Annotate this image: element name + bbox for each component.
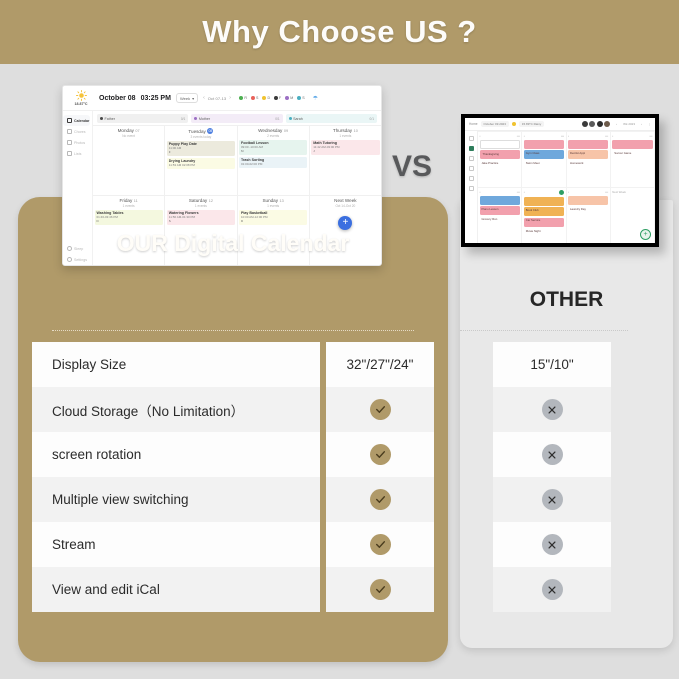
check-icon bbox=[370, 399, 391, 420]
sidebar-item-label: Lists bbox=[74, 152, 81, 156]
cross-icon bbox=[542, 534, 563, 555]
feature-value-other bbox=[493, 522, 611, 567]
day-name: Saturday 12 bbox=[189, 198, 213, 203]
day-name: Tuesday 08 bbox=[188, 128, 213, 134]
calendar-time: 03:25 PM bbox=[141, 95, 171, 102]
event-assignee: S bbox=[169, 219, 233, 223]
other-sidebar bbox=[465, 131, 478, 243]
event-assignee: J bbox=[313, 149, 377, 153]
feature-value-ours: 32"/27"/24" bbox=[326, 342, 434, 387]
member-chip[interactable]: Sarah 0/1 bbox=[286, 114, 377, 123]
sidebar-item-label: Chores bbox=[74, 130, 86, 134]
chevron-right-icon[interactable]: › bbox=[641, 122, 642, 126]
other-event-card[interactable]: Jake Practice bbox=[480, 150, 520, 159]
chores-icon bbox=[67, 129, 72, 134]
sidebar-item-photos[interactable]: Photos bbox=[63, 137, 92, 148]
vs-label: VS bbox=[392, 150, 432, 184]
table-row: View and edit iCal bbox=[32, 567, 434, 612]
chevron-left-icon[interactable]: ‹ bbox=[616, 122, 617, 126]
member-chip-count: 0/1 bbox=[370, 117, 374, 121]
other-day-column[interactable]: •••• Dentist Appt Homework bbox=[567, 132, 611, 187]
next-week-range: Oct 14-Oct 20 bbox=[335, 204, 355, 208]
day-column-thursday[interactable]: Thursday 10 1 events Math Tutoring 11:42… bbox=[310, 125, 381, 195]
page-title: Why Choose US ? bbox=[202, 14, 476, 50]
day-column-wednesday[interactable]: Wednesday 09 2 events Football Lesson 09… bbox=[238, 125, 310, 195]
today-badge bbox=[559, 190, 564, 195]
day-column-monday[interactable]: Monday 07 No event bbox=[93, 125, 165, 195]
lists-icon bbox=[67, 151, 72, 156]
sidebar-item-lists[interactable]: Lists bbox=[63, 148, 92, 159]
other-calendar-grid: •••• Thanksgiving Jake Practice •••• Gym… bbox=[478, 131, 655, 243]
other-column-divider bbox=[460, 330, 628, 331]
calendar-icon[interactable] bbox=[469, 146, 474, 151]
other-event-card[interactable]: Thanksgiving bbox=[480, 140, 520, 149]
other-event-card[interactable]: Swim Meet bbox=[524, 150, 564, 159]
event-card[interactable]: Play Basketball 10:00 AM-12:00 PM D bbox=[239, 210, 307, 225]
day-event-count: No event bbox=[122, 134, 135, 138]
feature-label: Cloud Storage（No Limitation） bbox=[32, 387, 320, 432]
member-avatar[interactable]: F bbox=[274, 96, 282, 101]
check-icon bbox=[370, 489, 391, 510]
feature-value-ours bbox=[326, 477, 434, 522]
day-name: Wednesday 09 bbox=[258, 128, 288, 133]
table-row: Display Size 32"/27"/24" bbox=[32, 342, 434, 387]
table-row bbox=[493, 522, 611, 567]
date-range-label: Oct 07-13 bbox=[208, 96, 226, 101]
sidebar-item-label: Settings bbox=[74, 258, 87, 262]
table-row: screen rotation bbox=[32, 432, 434, 477]
table-row: Stream bbox=[32, 522, 434, 567]
other-event-card[interactable]: Soccer Game bbox=[612, 140, 652, 149]
sun-icon bbox=[512, 122, 516, 126]
date-range-nav[interactable]: ‹ Oct 07-13 › bbox=[203, 95, 231, 101]
member-chip-label: Mother bbox=[199, 117, 210, 121]
sidebar-item-label: Photos bbox=[74, 141, 85, 145]
lists-icon[interactable] bbox=[469, 166, 474, 171]
day-name: Friday 11 bbox=[120, 198, 138, 203]
view-selector[interactable]: Week ▾ bbox=[176, 93, 198, 103]
view-selector-label: Week bbox=[180, 96, 190, 101]
other-home-label: Home bbox=[469, 122, 478, 126]
feature-value-other bbox=[493, 432, 611, 477]
feature-label: Multiple view switching bbox=[32, 477, 320, 522]
table-row bbox=[493, 432, 611, 477]
day-event-count: 1 events bbox=[123, 204, 135, 208]
feature-value-ours bbox=[326, 522, 434, 567]
next-week-title: Next Week bbox=[334, 198, 356, 203]
other-weather-pill: 15.89°C Rainy bbox=[519, 121, 544, 127]
feature-label: Display Size bbox=[32, 342, 320, 387]
table-row: Cloud Storage（No Limitation） bbox=[32, 387, 434, 432]
member-chip-count: 0/1 bbox=[275, 117, 279, 121]
feature-label: View and edit iCal bbox=[32, 567, 320, 612]
other-next-week-label: Next Week bbox=[612, 190, 626, 194]
more-icon[interactable]: ⋮ bbox=[648, 122, 651, 126]
day-name: Sunday 13 bbox=[262, 198, 283, 203]
member-chip-label: Father bbox=[105, 117, 115, 121]
feature-value-other bbox=[493, 567, 611, 612]
day-event-count: 2 events bbox=[267, 134, 279, 138]
other-body: •••• Thanksgiving Jake Practice •••• Gym… bbox=[465, 131, 655, 243]
event-assignee: D bbox=[241, 219, 305, 223]
event-time: 01:00-02:00 PM bbox=[241, 162, 305, 166]
event-assignee: F bbox=[169, 150, 233, 154]
feature-label: Stream bbox=[32, 522, 320, 567]
other-event-card[interactable]: Dentist Appt bbox=[568, 140, 608, 149]
day-name: Thursday 10 bbox=[333, 128, 358, 133]
event-assignee: M bbox=[241, 149, 305, 153]
cross-icon bbox=[542, 579, 563, 600]
photos-icon[interactable] bbox=[469, 176, 474, 181]
event-assignee: D bbox=[97, 219, 161, 223]
other-event-card[interactable]: Car Service bbox=[524, 207, 564, 216]
check-icon bbox=[370, 534, 391, 555]
other-day-column[interactable]: •••• Gym Class Swim Meet bbox=[522, 132, 566, 187]
event-time: 11:53 AM 02:08 PM bbox=[169, 163, 233, 167]
member-avatar[interactable]: M bbox=[285, 96, 294, 101]
add-event-button[interactable]: + bbox=[640, 229, 651, 240]
cross-icon bbox=[542, 444, 563, 465]
day-event-count: 1 events bbox=[267, 204, 279, 208]
sidebar-item-label: Calendar bbox=[74, 119, 89, 123]
other-week-row: •••• Thanksgiving Jake Practice •••• Gym… bbox=[478, 131, 655, 187]
other-event-card[interactable]: Book Club bbox=[524, 197, 564, 206]
chevron-down-icon: ▾ bbox=[192, 96, 194, 101]
other-feature-table: 15"/10" bbox=[493, 342, 611, 612]
event-card[interactable]: Football Lesson 09:00 -10:00 AM M bbox=[239, 140, 307, 155]
other-day-column-next-week[interactable]: Next Week + bbox=[611, 188, 655, 243]
other-day-column[interactable]: •••• Soccer Game bbox=[611, 132, 655, 187]
other-day-column[interactable]: •••• Thanksgiving Jake Practice bbox=[478, 132, 522, 187]
other-event-card[interactable]: Grocery Run bbox=[480, 206, 520, 215]
feature-value-other bbox=[493, 387, 611, 432]
today-badge: 08 bbox=[207, 128, 213, 134]
other-date-pill[interactable]: October 09 2023 bbox=[481, 121, 509, 127]
our-column-divider bbox=[52, 330, 414, 331]
other-nav-label: Wk 2023 bbox=[623, 122, 635, 126]
other-event-card[interactable]: Piano Lesson bbox=[480, 196, 520, 205]
member-avatar[interactable]: S bbox=[251, 96, 259, 101]
other-device-screenshot: Home October 09 2023 15.89°C Rainy ‹ Wk … bbox=[461, 114, 659, 247]
feature-value-other: 15"/10" bbox=[493, 342, 611, 387]
chevron-right-icon[interactable]: › bbox=[229, 95, 231, 101]
member-chip-row: Father 0/1 Mother 0/1 Sarah 0/1 bbox=[93, 111, 381, 125]
other-week-row: •••• Piano Lesson Grocery Run • Book Clu… bbox=[478, 187, 655, 243]
feature-value-ours bbox=[326, 432, 434, 477]
cross-icon bbox=[542, 489, 563, 510]
table-row: 15"/10" bbox=[493, 342, 611, 387]
other-event-card[interactable]: Gym Class bbox=[524, 140, 564, 149]
gear-icon[interactable] bbox=[469, 186, 474, 191]
event-card[interactable]: Watering Flowers 11:56 AM-01:30 PM S bbox=[167, 210, 235, 225]
event-card[interactable]: Trash Sorting 01:00-02:00 PM bbox=[239, 157, 307, 168]
event-card[interactable]: Drying Laundry 11:53 AM 02:08 PM bbox=[167, 158, 235, 169]
table-row bbox=[493, 567, 611, 612]
member-avatar[interactable]: D bbox=[262, 96, 270, 101]
chores-icon[interactable] bbox=[469, 156, 474, 161]
other-day-column[interactable]: •••• Laundry Day bbox=[567, 188, 611, 243]
header-banner: Why Choose US ? bbox=[0, 0, 679, 64]
other-event-card[interactable]: Homework bbox=[568, 150, 608, 159]
other-column-heading: OTHER bbox=[460, 288, 673, 312]
member-chip[interactable]: Father 0/1 bbox=[97, 114, 188, 123]
other-topbar: Home October 09 2023 15.89°C Rainy ‹ Wk … bbox=[465, 118, 655, 131]
table-row bbox=[493, 387, 611, 432]
our-column-heading: OUR Digital Calendar bbox=[18, 230, 448, 257]
other-avatar-list bbox=[582, 121, 611, 127]
other-day-column[interactable]: •••• Piano Lesson Grocery Run bbox=[478, 188, 522, 243]
event-card[interactable]: Math Tutoring 11:42 AM-03:00 PM J bbox=[311, 140, 379, 155]
day-event-count: 1 events bbox=[195, 204, 207, 208]
member-avatar[interactable]: S bbox=[297, 96, 305, 101]
sun-icon bbox=[76, 90, 87, 101]
other-event-card[interactable]: Movie Night bbox=[524, 218, 564, 227]
feature-label: screen rotation bbox=[32, 432, 320, 477]
check-icon bbox=[370, 579, 391, 600]
other-day-column[interactable]: • Book Club Car Service Movie Night bbox=[522, 188, 566, 243]
event-card[interactable]: Puppy Play Date 11:00 AM F bbox=[167, 141, 235, 156]
feature-value-ours bbox=[326, 387, 434, 432]
member-avatar-list: R S D F M S bbox=[239, 96, 305, 101]
day-name: Monday 07 bbox=[118, 128, 140, 133]
feature-value-other bbox=[493, 477, 611, 522]
avatar[interactable] bbox=[597, 121, 603, 127]
event-card[interactable]: Washing Tables 01:46-03:46 PM D bbox=[95, 210, 163, 225]
home-icon[interactable] bbox=[469, 136, 474, 141]
weather-widget: 18.87°C bbox=[68, 90, 94, 106]
temperature-label: 18.87°C bbox=[74, 102, 87, 106]
photos-icon bbox=[67, 140, 72, 145]
chevron-left-icon[interactable]: ‹ bbox=[203, 95, 205, 101]
day-event-count: 1 events bbox=[339, 134, 351, 138]
member-avatar[interactable]: R bbox=[239, 96, 247, 101]
other-device-screen: Home October 09 2023 15.89°C Rainy ‹ Wk … bbox=[465, 118, 655, 243]
sidebar-item-chores[interactable]: Chores bbox=[63, 126, 92, 137]
calendar-icon bbox=[67, 118, 72, 123]
table-row bbox=[493, 477, 611, 522]
day-event-count: 3 events today bbox=[191, 135, 212, 139]
cross-icon bbox=[542, 399, 563, 420]
our-feature-table: Display Size 32"/27"/24" Cloud Storage（N… bbox=[32, 342, 434, 612]
day-column-tuesday[interactable]: Tuesday 08 3 events today Puppy Play Dat… bbox=[165, 125, 237, 195]
add-event-button[interactable]: + bbox=[338, 216, 352, 230]
avatar[interactable] bbox=[604, 121, 610, 127]
wifi-icon: ☂ bbox=[313, 95, 318, 102]
calendar-date: October 08 bbox=[99, 95, 136, 102]
sidebar-item-calendar[interactable]: Calendar bbox=[63, 115, 90, 126]
table-row: Multiple view switching bbox=[32, 477, 434, 522]
avatar[interactable] bbox=[589, 121, 595, 127]
member-chip-label: Sarah bbox=[293, 117, 303, 121]
calendar-topbar: 18.87°C October 08 03:25 PM Week ▾ ‹ Oct… bbox=[63, 86, 381, 111]
feature-value-ours bbox=[326, 567, 434, 612]
gear-icon bbox=[67, 257, 72, 262]
other-event-card[interactable]: Laundry Day bbox=[568, 196, 608, 205]
calendar-week-row: Monday 07 No event Tuesday 08 3 events t… bbox=[93, 125, 381, 195]
member-chip-count: 0/1 bbox=[181, 117, 185, 121]
member-chip[interactable]: Mother 0/1 bbox=[191, 114, 282, 123]
avatar[interactable] bbox=[582, 121, 588, 127]
check-icon bbox=[370, 444, 391, 465]
